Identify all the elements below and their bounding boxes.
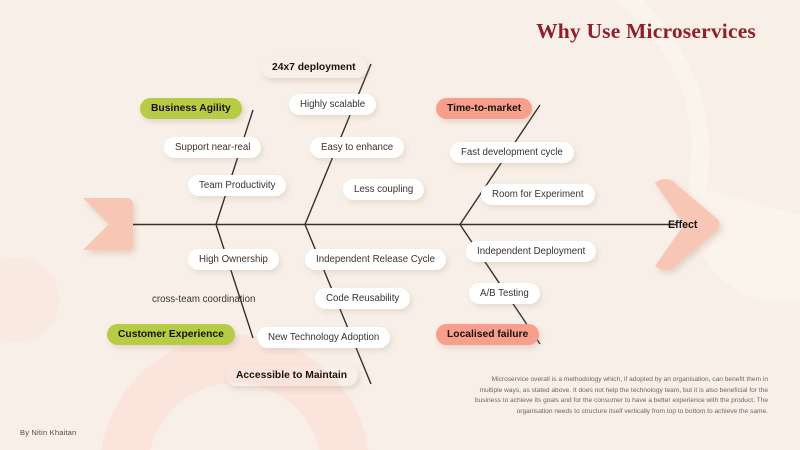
item-ab-testing[interactable]: A/B Testing — [469, 283, 540, 304]
category-customer-experience-label: Customer Experience — [118, 329, 224, 340]
category-customer-experience[interactable]: Customer Experience — [107, 324, 235, 345]
item-independent-release-cycle[interactable]: Independent Release Cycle — [305, 249, 446, 270]
item-high-ownership[interactable]: High Ownership — [188, 249, 279, 270]
item-less-coupling[interactable]: Less coupling — [343, 179, 424, 200]
item-code-reusability[interactable]: Code Reusability — [315, 288, 410, 309]
item-highly-scalable-label: Highly scalable — [300, 99, 365, 110]
category-localised-failure[interactable]: Localised failure — [436, 324, 539, 345]
item-support-near-real-label: Support near-real — [175, 142, 250, 153]
item-support-near-real[interactable]: Support near-real — [164, 137, 261, 158]
item-fast-development-cycle-label: Fast development cycle — [461, 147, 563, 158]
item-easy-to-enhance-label: Easy to enhance — [321, 142, 393, 153]
item-independent-deployment[interactable]: Independent Deployment — [466, 241, 596, 262]
item-team-productivity[interactable]: Team Productivity — [188, 175, 286, 196]
item-room-for-experiment[interactable]: Room for Experiment — [481, 184, 595, 205]
cause-origin-flag — [83, 198, 133, 250]
fishbone-diagram-canvas: Why Use Microservices Effect Business Ag… — [0, 0, 800, 450]
effect-label: Effect — [668, 214, 697, 235]
item-cross-team-coordination[interactable]: cross-team coordination — [141, 289, 266, 310]
item-new-technology-adoption[interactable]: New Technology Adoption — [257, 327, 390, 348]
category-time-to-market-label: Time-to-market — [447, 103, 521, 114]
item-less-coupling-label: Less coupling — [354, 184, 413, 195]
branch-line-customer-experience — [216, 225, 253, 339]
category-time-to-market[interactable]: Time-to-market — [436, 98, 532, 119]
item-ab-testing-label: A/B Testing — [480, 288, 529, 299]
item-code-reusability-label: Code Reusability — [326, 293, 399, 304]
item-room-for-experiment-label: Room for Experiment — [492, 189, 584, 200]
branch-line-time-to-market — [460, 105, 540, 225]
branch-line-business-agility — [216, 110, 253, 225]
item-new-technology-adoption-label: New Technology Adoption — [268, 332, 379, 343]
item-high-ownership-label: High Ownership — [199, 254, 268, 265]
category-accessible-to-maintain-label: Accessible to Maintain — [236, 370, 347, 381]
category-localised-failure-label: Localised failure — [447, 329, 528, 340]
page-title: Why Use Microservices — [536, 19, 756, 44]
category-business-agility[interactable]: Business Agility — [140, 98, 242, 119]
explanatory-note: Microservice overall is a methodology wh… — [468, 375, 768, 418]
item-team-productivity-label: Team Productivity — [199, 180, 275, 191]
category-24x7-deployment[interactable]: 24x7 deployment — [261, 57, 367, 78]
effect-label-text: Effect — [668, 219, 697, 231]
category-accessible-to-maintain[interactable]: Accessible to Maintain — [225, 365, 358, 386]
item-highly-scalable[interactable]: Highly scalable — [289, 94, 376, 115]
category-business-agility-label: Business Agility — [151, 103, 231, 114]
author-credit: By Nitin Khaitan — [20, 428, 76, 437]
item-cross-team-coordination-label: cross-team coordination — [152, 294, 255, 305]
item-independent-deployment-label: Independent Deployment — [477, 246, 585, 257]
item-fast-development-cycle[interactable]: Fast development cycle — [450, 142, 574, 163]
item-easy-to-enhance[interactable]: Easy to enhance — [310, 137, 404, 158]
item-independent-release-cycle-label: Independent Release Cycle — [316, 254, 435, 265]
category-24x7-deployment-label: 24x7 deployment — [272, 62, 356, 73]
